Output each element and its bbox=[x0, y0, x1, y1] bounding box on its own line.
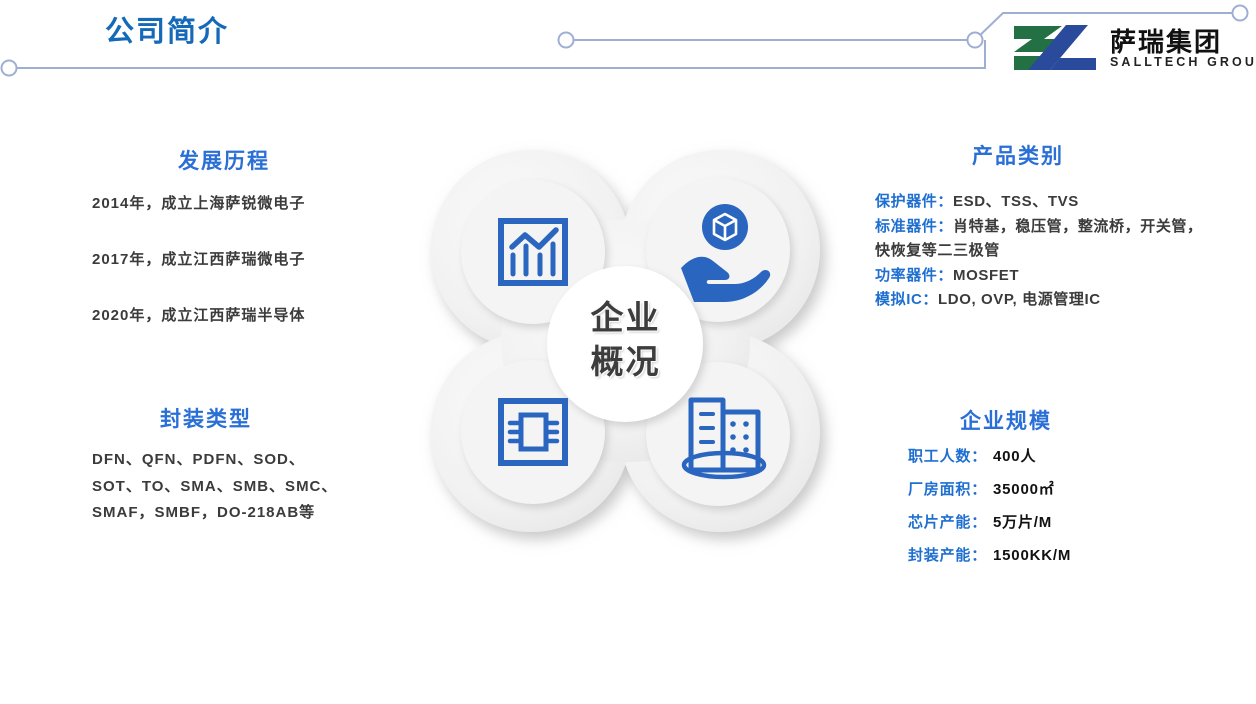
list-item: 标准器件：肖特基，稳压管，整流桥，开关管，快恢复等二三极管 bbox=[875, 215, 1205, 264]
circuit-node-mid bbox=[559, 33, 574, 48]
circuit-node-left bbox=[2, 61, 17, 76]
list-item: 芯片产能： 5万片/M bbox=[908, 511, 1071, 532]
list-item: 2017年，成立江西萨瑞微电子 bbox=[92, 248, 402, 269]
scale-label: 封装产能： bbox=[908, 544, 987, 565]
list-item: 厂房面积： 35000㎡ bbox=[908, 478, 1071, 499]
logo-mark-icon bbox=[1010, 22, 1100, 74]
scale-label: 芯片产能： bbox=[908, 511, 987, 532]
list-item: 功率器件：MOSFET bbox=[875, 264, 1205, 289]
product-label: 标准器件： bbox=[875, 218, 953, 235]
product-value: ESD、TSS、TVS bbox=[953, 193, 1079, 210]
product-value: LDO, OVP, 电源管理IC bbox=[938, 291, 1101, 308]
logo-name-cn: 萨瑞集团 bbox=[1110, 22, 1222, 59]
section-heading-package: 封装类型 bbox=[160, 403, 252, 433]
scale-label: 职工人数： bbox=[908, 445, 987, 466]
product-label: 保护器件： bbox=[875, 193, 953, 210]
page-title: 公司简介 bbox=[105, 8, 229, 50]
company-scale-list: 职工人数： 400人 厂房面积： 35000㎡ 芯片产能： 5万片/M 封装产能… bbox=[908, 445, 1071, 577]
circuit-node-right bbox=[1233, 6, 1248, 21]
product-category-list: 保护器件：ESD、TSS、TVS 标准器件：肖特基，稳压管，整流桥，开关管，快恢… bbox=[875, 190, 1205, 313]
scale-value: 5万片/M bbox=[993, 511, 1052, 532]
product-label: 功率器件： bbox=[875, 267, 953, 284]
product-label: 模拟IC： bbox=[875, 291, 938, 308]
scale-value: 35000㎡ bbox=[993, 478, 1055, 499]
circuit-node-junction bbox=[968, 33, 983, 48]
list-item: 保护器件：ESD、TSS、TVS bbox=[875, 190, 1205, 215]
scale-value: 400人 bbox=[993, 445, 1036, 466]
section-heading-product: 产品类别 bbox=[972, 140, 1064, 170]
product-value: MOSFET bbox=[953, 267, 1019, 284]
section-heading-scale: 企业规模 bbox=[960, 405, 1052, 435]
package-types-text: DFN、QFN、PDFN、SOD、SOT、TO、SMA、SMB、SMC、SMAF… bbox=[92, 447, 342, 527]
history-list: 2014年，成立上海萨锐微电子 2017年，成立江西萨瑞微电子 2020年，成立… bbox=[92, 192, 402, 360]
company-logo: 萨瑞集团 SALLTECH GROUP bbox=[1010, 22, 1250, 80]
scale-value: 1500KK/M bbox=[993, 547, 1071, 564]
list-item: 封装产能： 1500KK/M bbox=[908, 544, 1071, 565]
list-item: 模拟IC：LDO, OVP, 电源管理IC bbox=[875, 288, 1205, 313]
scale-label: 厂房面积： bbox=[908, 478, 987, 499]
company-overview-diagram bbox=[413, 122, 838, 557]
list-item: 2020年，成立江西萨瑞半导体 bbox=[92, 304, 402, 325]
slide-root: 公司简介 萨瑞集团 SALLTECH GROUP 发展历程 2014年，成立上海… bbox=[0, 0, 1256, 704]
list-item: 2014年，成立上海萨锐微电子 bbox=[92, 192, 402, 213]
section-heading-history: 发展历程 bbox=[178, 145, 270, 175]
logo-name-en: SALLTECH GROUP bbox=[1110, 55, 1256, 69]
center-disc bbox=[547, 266, 703, 422]
list-item: 职工人数： 400人 bbox=[908, 445, 1071, 466]
